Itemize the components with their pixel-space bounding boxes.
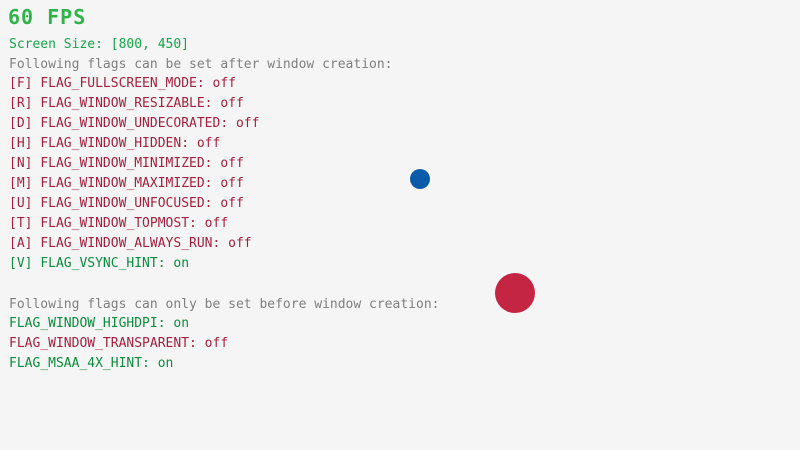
flag-name-label: FLAG_FULLSCREEN_MODE:: [40, 76, 204, 91]
flag-state-value: off: [197, 216, 228, 231]
fps-counter: 60 FPS: [8, 5, 86, 29]
flag-row[interactable]: [H] FLAG_WINDOW_HIDDEN: off: [9, 137, 259, 157]
flag-name-label: FLAG_WINDOW_UNDECORATED:: [40, 116, 228, 131]
flag-state-value: off: [213, 176, 244, 191]
flag-row[interactable]: [R] FLAG_WINDOW_RESIZABLE: off: [9, 97, 259, 117]
flag-name-label: FLAG_WINDOW_MINIMIZED:: [40, 156, 212, 171]
flag-shortcut-key: [F]: [9, 76, 40, 91]
flag-state-value: off: [205, 76, 236, 91]
flag-row[interactable]: [N] FLAG_WINDOW_MINIMIZED: off: [9, 157, 259, 177]
flag-list-before-creation: FLAG_WINDOW_HIGHDPI: onFLAG_WINDOW_TRANS…: [9, 317, 228, 377]
flag-name-label: FLAG_WINDOW_HIGHDPI:: [9, 316, 166, 331]
flag-shortcut-key: [R]: [9, 96, 40, 111]
flag-row[interactable]: [V] FLAG_VSYNC_HINT: on: [9, 257, 259, 277]
flag-state-value: off: [213, 196, 244, 211]
flag-shortcut-key: [A]: [9, 236, 40, 251]
flag-row[interactable]: [T] FLAG_WINDOW_TOPMOST: off: [9, 217, 259, 237]
flag-shortcut-key: [U]: [9, 196, 40, 211]
flag-shortcut-key: [T]: [9, 216, 40, 231]
flag-shortcut-key: [H]: [9, 136, 40, 151]
flag-shortcut-key: [M]: [9, 176, 40, 191]
flag-state-value: off: [213, 156, 244, 171]
flag-row[interactable]: [A] FLAG_WINDOW_ALWAYS_RUN: off: [9, 237, 259, 257]
flag-list-after-creation: [F] FLAG_FULLSCREEN_MODE: off[R] FLAG_WI…: [9, 77, 259, 277]
flag-state-value: on: [166, 316, 189, 331]
flag-name-label: FLAG_WINDOW_RESIZABLE:: [40, 96, 212, 111]
flag-state-value: off: [213, 96, 244, 111]
flag-shortcut-key: [D]: [9, 116, 40, 131]
flag-row[interactable]: FLAG_WINDOW_TRANSPARENT: off: [9, 337, 228, 357]
flag-name-label: FLAG_WINDOW_MAXIMIZED:: [40, 176, 212, 191]
flag-state-value: off: [189, 136, 220, 151]
flag-name-label: FLAG_WINDOW_HIDDEN:: [40, 136, 189, 151]
flag-row[interactable]: FLAG_MSAA_4X_HINT: on: [9, 357, 228, 377]
raylib-window-flags-demo: 60 FPS Screen Size: [800, 450] Following…: [0, 0, 800, 450]
flag-shortcut-key: [V]: [9, 256, 40, 271]
flag-name-label: FLAG_WINDOW_TRANSPARENT:: [9, 336, 197, 351]
blue-ball: [410, 169, 430, 189]
flag-name-label: FLAG_WINDOW_UNFOCUSED:: [40, 196, 212, 211]
section-heading-before-creation: Following flags can only be set before w…: [9, 297, 439, 312]
flag-row[interactable]: FLAG_WINDOW_HIGHDPI: on: [9, 317, 228, 337]
flag-name-label: FLAG_WINDOW_ALWAYS_RUN:: [40, 236, 220, 251]
flag-row[interactable]: [U] FLAG_WINDOW_UNFOCUSED: off: [9, 197, 259, 217]
flag-name-label: FLAG_MSAA_4X_HINT:: [9, 356, 150, 371]
flag-state-value: off: [220, 236, 251, 251]
flag-row[interactable]: [M] FLAG_WINDOW_MAXIMIZED: off: [9, 177, 259, 197]
flag-state-value: off: [197, 336, 228, 351]
flag-shortcut-key: [N]: [9, 156, 40, 171]
flag-state-value: on: [150, 356, 173, 371]
screen-size-label: Screen Size: [800, 450]: [9, 37, 189, 52]
flag-name-label: FLAG_VSYNC_HINT:: [40, 256, 165, 271]
section-heading-after-creation: Following flags can be set after window …: [9, 57, 393, 72]
flag-row[interactable]: [D] FLAG_WINDOW_UNDECORATED: off: [9, 117, 259, 137]
flag-state-value: on: [166, 256, 189, 271]
flag-state-value: off: [228, 116, 259, 131]
red-ball: [495, 273, 535, 313]
flag-row[interactable]: [F] FLAG_FULLSCREEN_MODE: off: [9, 77, 259, 97]
flag-name-label: FLAG_WINDOW_TOPMOST:: [40, 216, 197, 231]
